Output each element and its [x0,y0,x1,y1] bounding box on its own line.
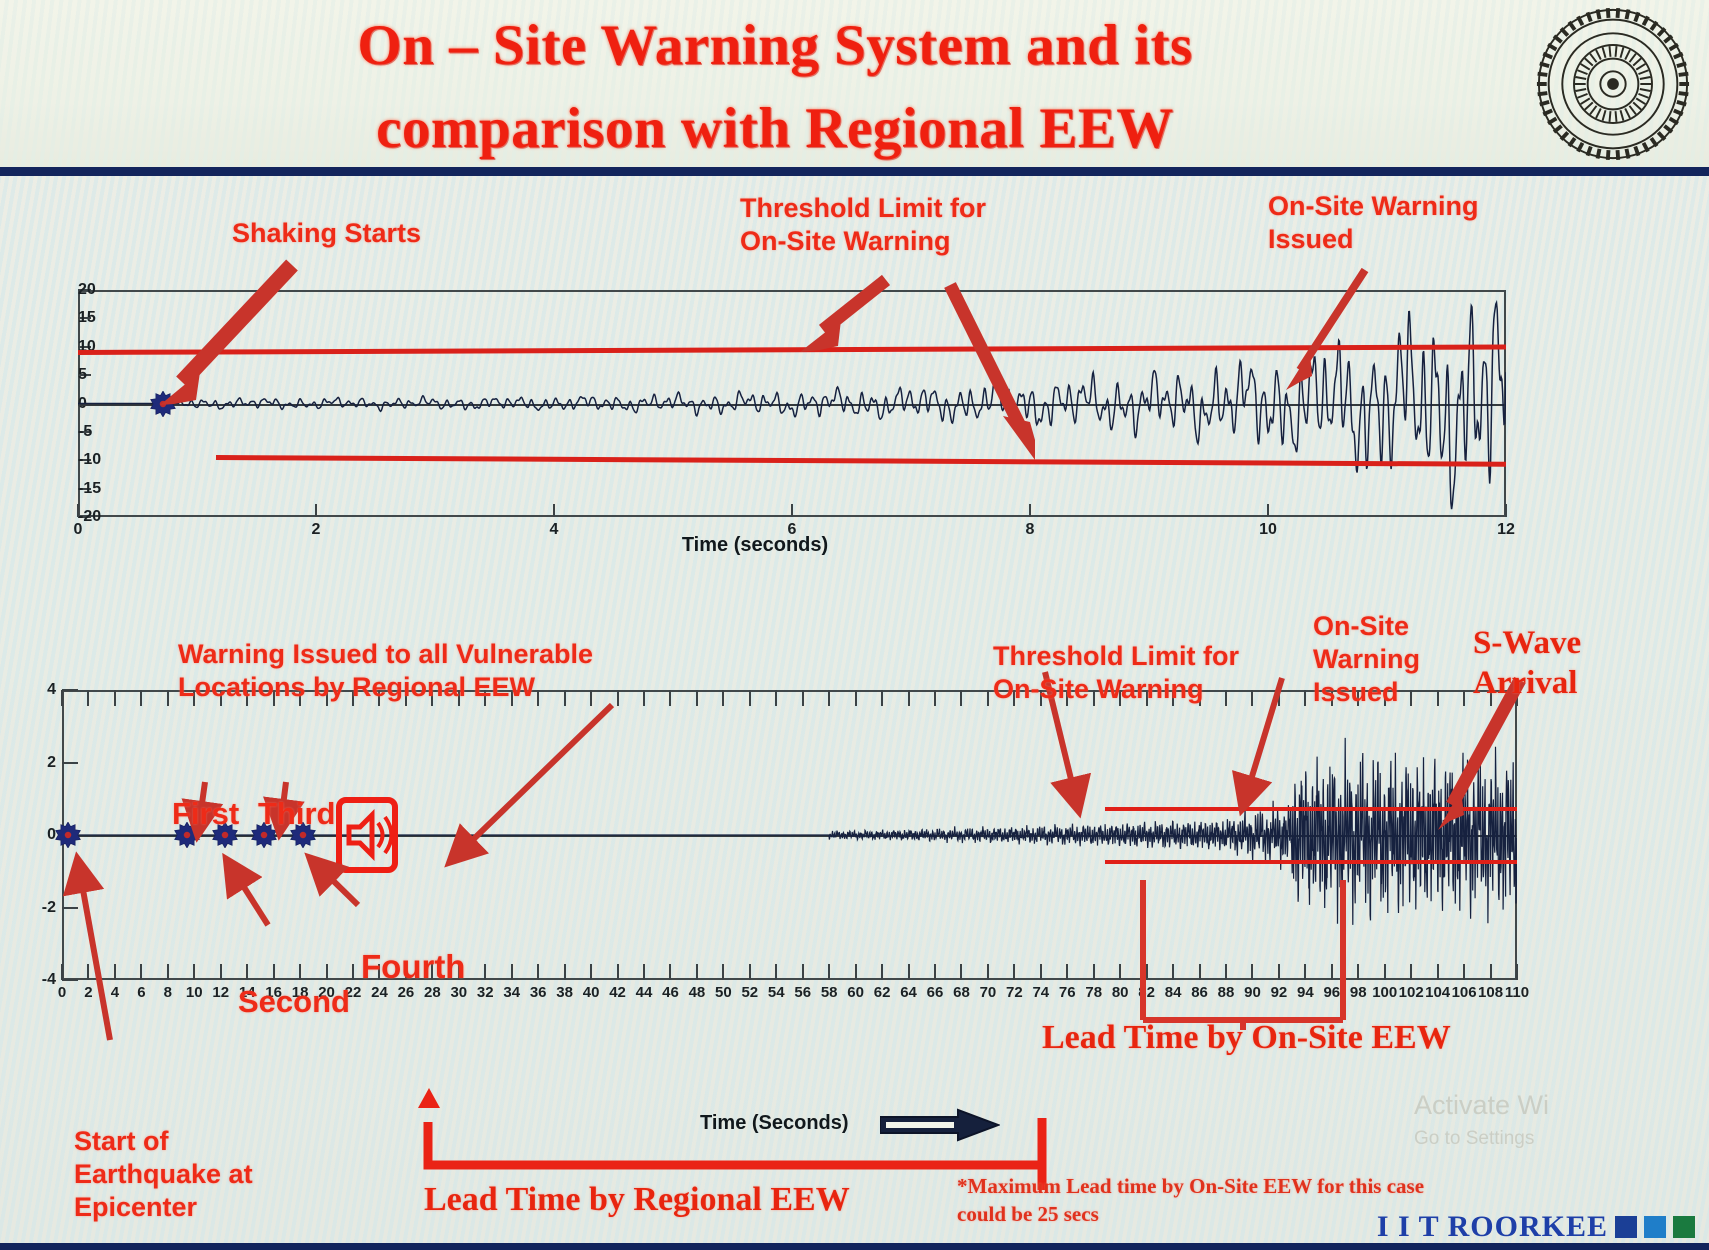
axis-tick-label: 48 [689,984,706,1001]
axis-tick-label: 82 [1138,984,1155,1001]
axis-tick-label: 92 [1271,984,1288,1001]
annotation-s-wave-arrival: S-Wave Arrival [1473,623,1581,703]
axis-tick-label: 80 [1112,984,1129,1001]
watermark-line-2: Go to Settings [1414,1122,1549,1155]
axis-tick-label: 74 [1032,984,1049,1001]
annotation-onsite-warning-issued-bottom: On-Site Warning Issued [1313,610,1420,709]
axis-tick-label: 34 [503,984,520,1001]
annotation-regional-eew-warning: Warning Issued to all Vulnerable Locatio… [178,638,593,704]
bottom-threshold-upper-line [1105,807,1517,811]
bottom-chart-x-axis-title: Time (Seconds) [700,1112,849,1135]
annotation-lead-time-onsite: Lead Time by On-Site EEW [1042,1020,1451,1056]
axis-tick-label: 72 [1006,984,1023,1001]
annotation-second: Second [238,985,350,1018]
iit-roorkee-seal-icon [1535,6,1691,162]
annotation-shaking-starts: Shaking Starts [232,217,421,250]
axis-tick-label: 2 [47,754,56,772]
axis-tick-label: 4 [550,521,559,539]
institute-name: I I T ROORKEE [1377,1210,1608,1244]
axis-tick-label: 8 [164,984,172,1001]
axis-tick-label: 4 [111,984,119,1001]
axis-tick-label: 24 [371,984,388,1001]
time-direction-arrow-icon [880,1108,1000,1142]
axis-tick-label: 94 [1297,984,1314,1001]
axis-tick-label: 96 [1323,984,1340,1001]
axis-tick-label: 0 [58,984,66,1001]
axis-tick-label: 6 [137,984,145,1001]
iit-roorkee-footer: I I T ROORKEE [1377,1210,1695,1244]
axis-tick-label: 10 [1259,521,1277,539]
axis-tick-label: 70 [980,984,997,1001]
bottom-chart-waveform [62,690,1517,980]
footer-square-3 [1673,1216,1695,1238]
annotation-threshold-limit-bottom: Threshold Limit for On-Site Warning [993,640,1239,706]
slide-canvas: On – Site Warning System and its compari… [0,0,1709,1250]
axis-tick-label: 12 [212,984,229,1001]
page-title: On – Site Warning System and its compari… [150,4,1400,170]
footer-bottom-rule [0,1243,1709,1250]
annotation-threshold-limit-top: Threshold Limit for On-Site Warning [740,192,986,258]
axis-tick-label: 98 [1350,984,1367,1001]
axis-tick-label: 40 [583,984,600,1001]
annotation-lead-time-regional: Lead Time by Regional EEW [424,1182,850,1218]
top-chart-waveform [78,290,1506,517]
axis-tick-label: 76 [1059,984,1076,1001]
axis-tick-label: 64 [900,984,917,1001]
watermark-line-1: Activate Wi [1414,1089,1549,1122]
axis-tick-label: 84 [1165,984,1182,1001]
annotation-first: First [172,797,239,830]
axis-tick-label: 108 [1478,984,1503,1001]
axis-tick-label: 44 [636,984,653,1001]
axis-tick-label: 62 [874,984,891,1001]
bottom-chart-epicenter-marker [55,822,81,848]
regional-eew-broadcast-icon [336,797,398,873]
axis-tick-label: 50 [715,984,732,1001]
axis-tick-label: 38 [556,984,573,1001]
bottom-seismogram-chart: 420-2-4 02468101214161820222426283032343… [62,690,1517,980]
axis-tick-label: 52 [741,984,758,1001]
annotation-footnote: *Maximum Lead time by On-Site EEW for th… [957,1172,1424,1228]
arrow-lead-time-regional-head [418,1088,440,1108]
axis-tick-label: 106 [1452,984,1477,1001]
annotation-onsite-warning-issued-top: On-Site Warning Issued [1268,190,1479,256]
axis-tick-label: 104 [1425,984,1450,1001]
title-line-1: On – Site Warning System and its [150,4,1400,87]
axis-tick-label: 2 [84,984,92,1001]
axis-tick-label: 66 [927,984,944,1001]
axis-tick-label: 2 [312,521,321,539]
annotation-third: Third [258,797,336,830]
slide-header: On – Site Warning System and its compari… [0,0,1709,176]
axis-tick-label: -4 [42,971,56,989]
axis-tick-label: 8 [1026,521,1035,539]
axis-tick-label: 100 [1372,984,1397,1001]
axis-tick-label: 32 [477,984,494,1001]
axis-tick-label: 28 [424,984,441,1001]
axis-tick-label: -2 [42,899,56,917]
axis-tick-label: 88 [1218,984,1235,1001]
axis-tick-label: 110 [1505,984,1529,1001]
footer-square-1 [1615,1216,1637,1238]
axis-tick-label: 58 [821,984,838,1001]
axis-tick-label: 12 [1497,521,1515,539]
axis-tick-label: 36 [530,984,547,1001]
axis-tick-label: 54 [768,984,785,1001]
axis-tick-label: 68 [953,984,970,1001]
axis-tick-label: 30 [450,984,467,1001]
axis-tick-label: 10 [186,984,203,1001]
axis-tick-label: 86 [1191,984,1208,1001]
axis-tick-label: 42 [609,984,626,1001]
axis-tick-label: 0 [74,521,83,539]
footer-square-2 [1644,1216,1666,1238]
axis-tick-label: 26 [398,984,415,1001]
axis-tick-label: 102 [1399,984,1424,1001]
axis-tick-label: 78 [1085,984,1102,1001]
windows-activation-watermark: Activate Wi Go to Settings [1414,1089,1549,1155]
top-seismogram-chart: 20151050-5-10-15-20 024681012 [78,290,1506,517]
title-line-2: comparison with Regional EEW [150,87,1400,170]
axis-tick-label: 56 [794,984,811,1001]
bottom-threshold-lower-line [1105,860,1517,864]
axis-tick-label: 60 [847,984,864,1001]
top-chart-shaking-start-marker [150,391,176,417]
top-chart-x-axis-title: Time (seconds) [682,534,828,557]
axis-tick-label: 4 [47,681,56,699]
annotation-fourth: Fourth [361,950,465,983]
annotation-arrows-layer [0,0,1709,1250]
axis-tick-label: 90 [1244,984,1261,1001]
annotation-start-of-earthquake: Start of Earthquake at Epicenter [74,1125,253,1224]
axis-tick-label: 46 [662,984,679,1001]
